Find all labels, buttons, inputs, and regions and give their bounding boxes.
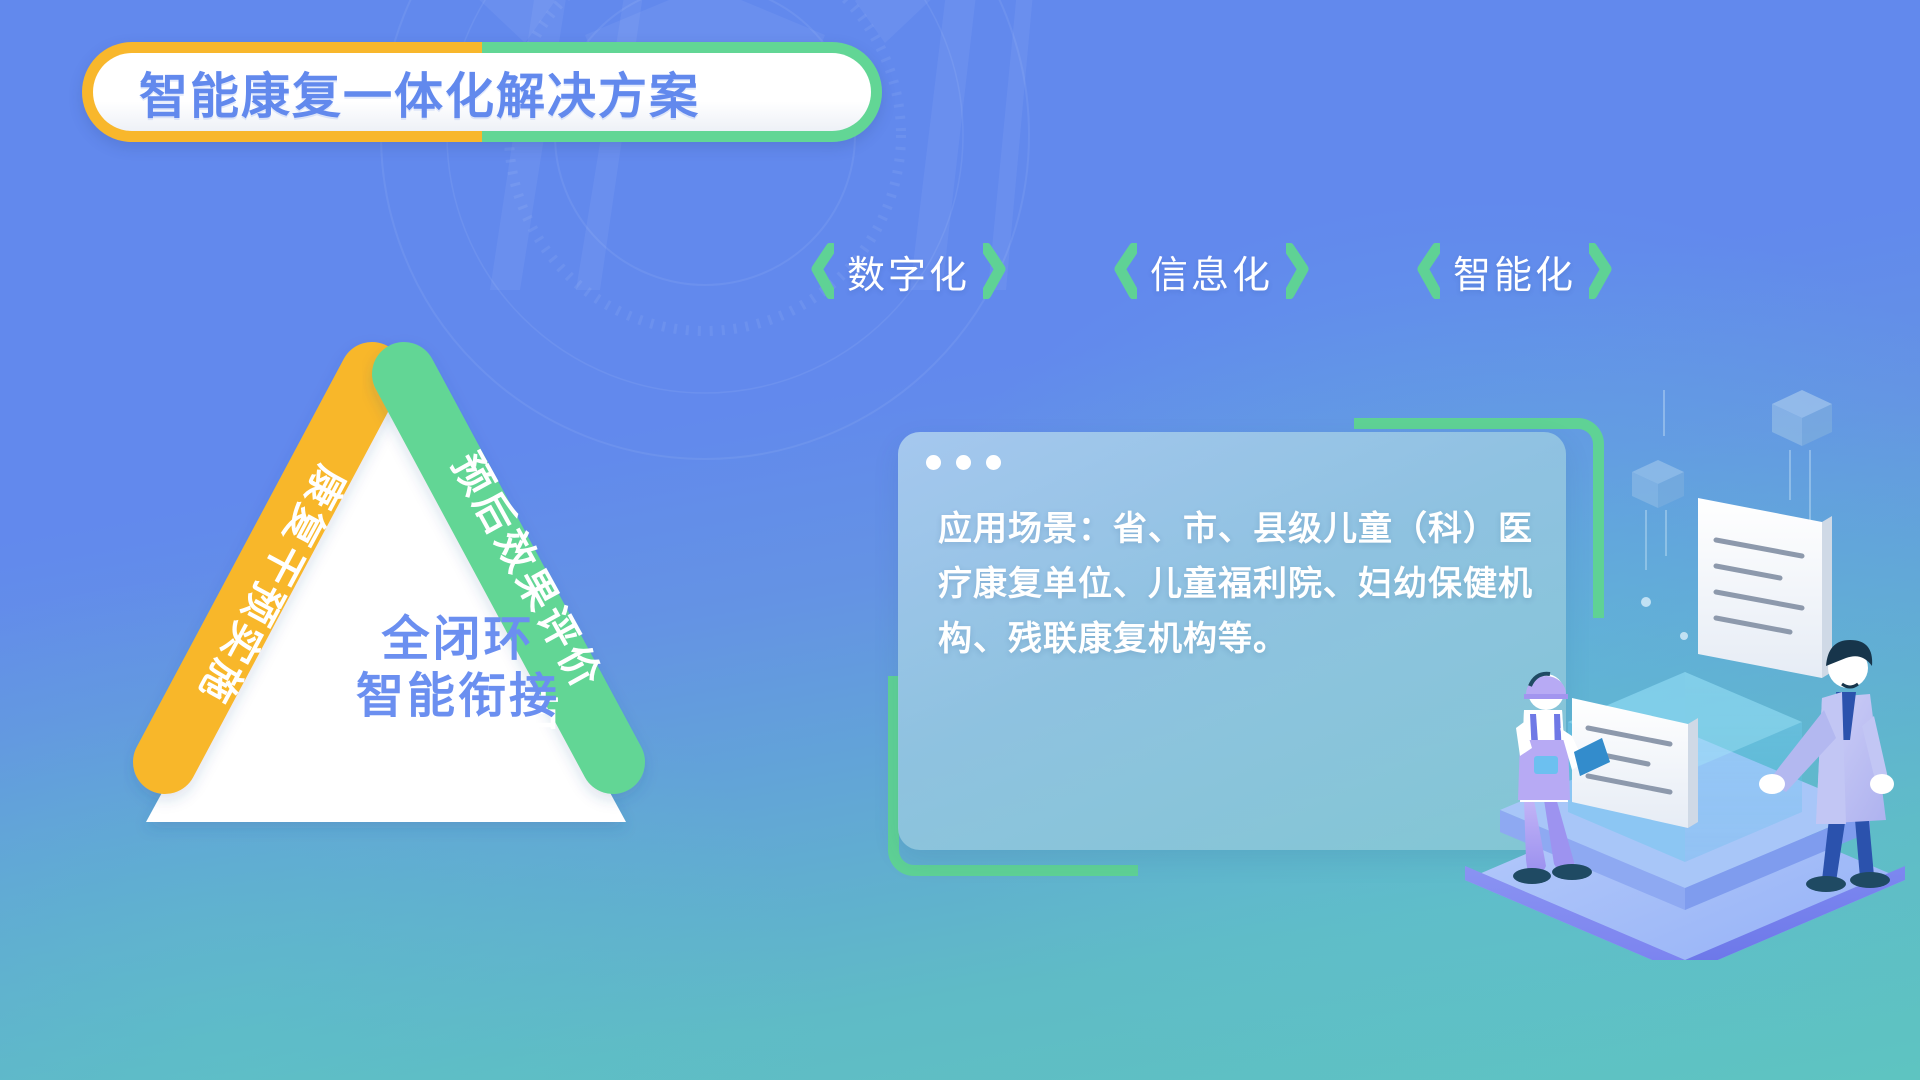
window-dot-2[interactable] <box>956 455 971 470</box>
feature-tag-intelligent[interactable]: 智能化 <box>1416 243 1613 299</box>
right-angle-bracket-icon <box>1286 243 1310 299</box>
right-angle-bracket-icon <box>983 243 1007 299</box>
title-banner-pill: 智能康复一体化解决方案 <box>93 53 871 131</box>
closed-loop-triangle-diagram: 康复干预实施 预后效果评价 前期能力评估 全闭环 智能衔接 <box>70 262 830 942</box>
window-dot-3[interactable] <box>986 455 1001 470</box>
slide-canvas: 智能康复一体化解决方案 数字化 信息化 <box>0 0 1920 1080</box>
triangle-core-line-1: 全闭环 <box>318 612 598 669</box>
feature-tag-informatized[interactable]: 信息化 <box>1113 243 1310 299</box>
triangle-core-line-2: 智能衔接 <box>318 669 598 726</box>
feature-tag-label: 数字化 <box>847 244 970 299</box>
right-angle-bracket-icon <box>1589 243 1613 299</box>
feature-tag-list: 数字化 信息化 <box>810 243 1613 299</box>
triangle-core-label: 全闭环 智能衔接 <box>318 612 598 725</box>
floating-cube-lower <box>1632 460 1684 508</box>
feature-tag-label: 智能化 <box>1453 244 1576 299</box>
page-title: 智能康复一体化解决方案 <box>139 57 700 128</box>
left-angle-bracket-icon <box>1416 243 1440 299</box>
document-card-back <box>1698 498 1832 678</box>
isometric-illustration <box>1450 380 1920 960</box>
window-dot-1[interactable] <box>926 455 941 470</box>
window-control-dots <box>926 455 1001 470</box>
title-banner: 智能康复一体化解决方案 <box>82 42 882 142</box>
feature-tag-digital[interactable]: 数字化 <box>810 243 1007 299</box>
left-angle-bracket-icon <box>1113 243 1137 299</box>
floating-cube-upper <box>1772 390 1832 446</box>
feature-tag-label: 信息化 <box>1150 244 1273 299</box>
